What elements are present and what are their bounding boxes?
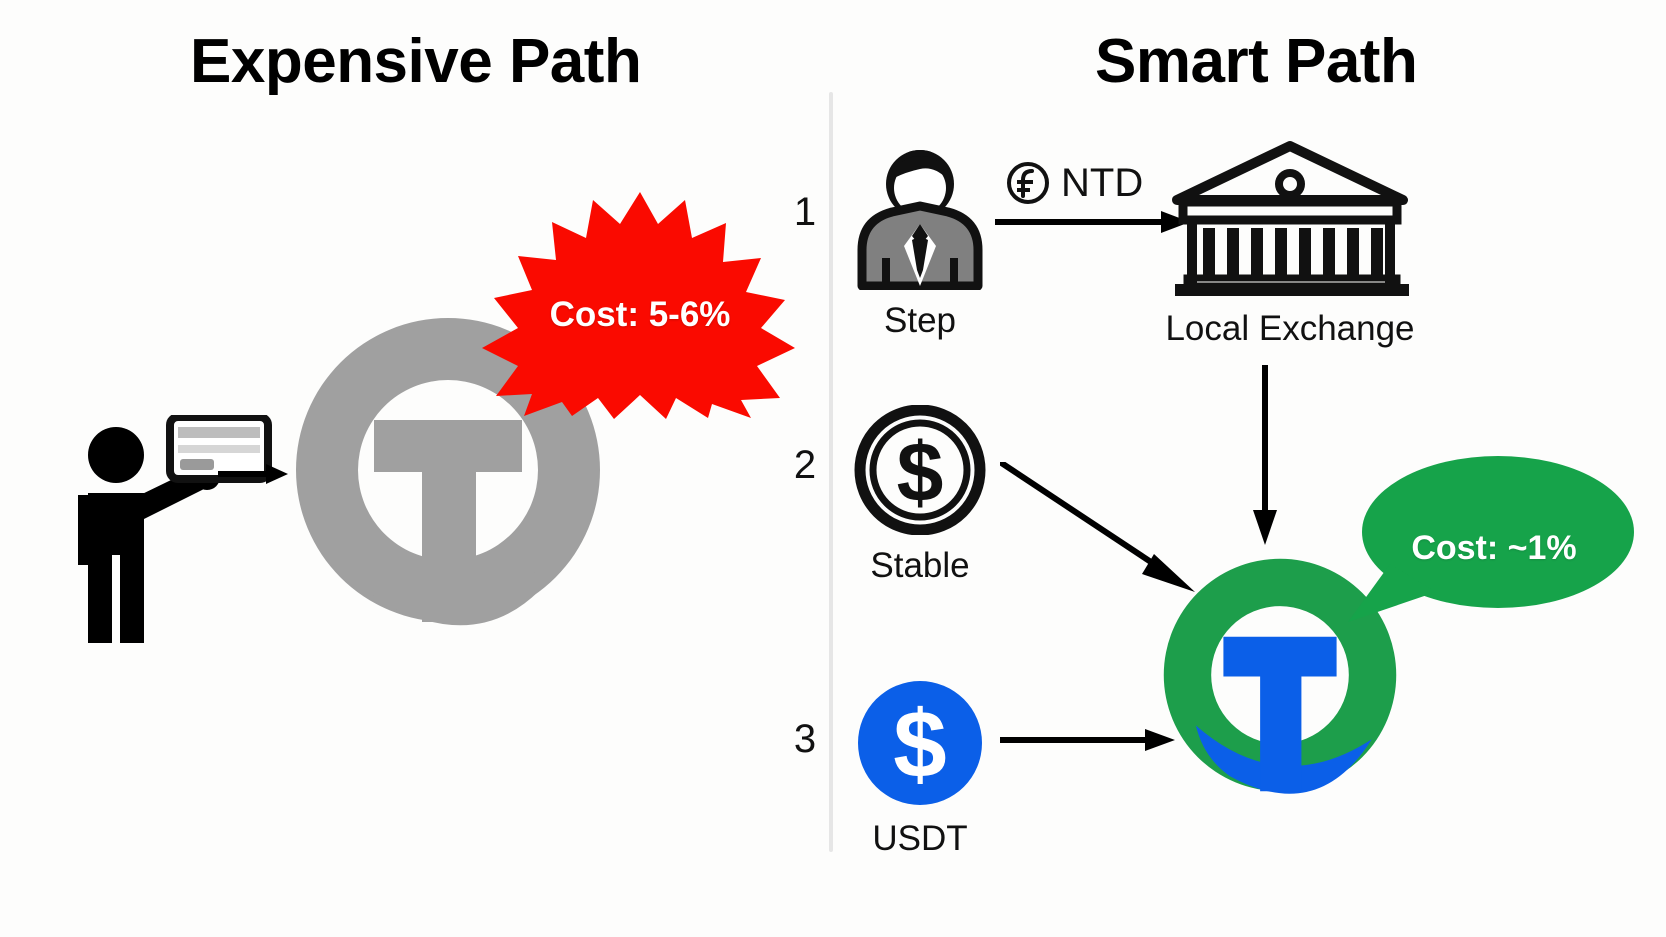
step-number-3: 3 (785, 717, 825, 762)
svg-text:$: $ (893, 691, 946, 798)
step-2-label: Stable (820, 546, 1020, 586)
bank-building-icon (1165, 138, 1415, 298)
step-number-2: 2 (785, 443, 825, 488)
cost-badge-expensive: Cost: 5-6% (480, 190, 800, 420)
step-number-1: 1 (785, 190, 825, 235)
infographic-canvas: Expensive Path Smart Path (0, 0, 1666, 937)
arrow-down-icon (1252, 365, 1278, 545)
step-1-label: Step (820, 301, 1020, 341)
local-exchange-target: Local Exchange (1165, 138, 1415, 349)
step-3-label: USDT (820, 819, 1020, 859)
businessman-icon (820, 140, 1020, 290)
panel-title-expensive: Expensive Path (190, 26, 641, 97)
step-2-source: $ Stable (820, 405, 1020, 586)
cost-badge-smart: Cost: ~1% (1340, 452, 1640, 627)
svg-text:$: $ (897, 425, 944, 519)
step-3-source: $ USDT (820, 678, 1020, 859)
dollar-coin-outline-icon: $ (820, 405, 1020, 535)
arrow-right-icon (995, 210, 1190, 234)
ntd-currency-group: NTD (1005, 160, 1143, 206)
panel-title-smart: Smart Path (1095, 26, 1417, 97)
local-exchange-label: Local Exchange (1165, 309, 1415, 349)
dollar-coin-blue-icon: $ (820, 678, 1020, 808)
arrow-right-icon (1000, 728, 1175, 752)
step-1-source: Step (820, 140, 1020, 341)
cost-badge-smart-label: Cost: ~1% (1340, 452, 1640, 627)
currency-circle-icon (1005, 160, 1051, 206)
ntd-label: NTD (1061, 161, 1143, 206)
cost-badge-expensive-label: Cost: 5-6% (480, 190, 800, 420)
